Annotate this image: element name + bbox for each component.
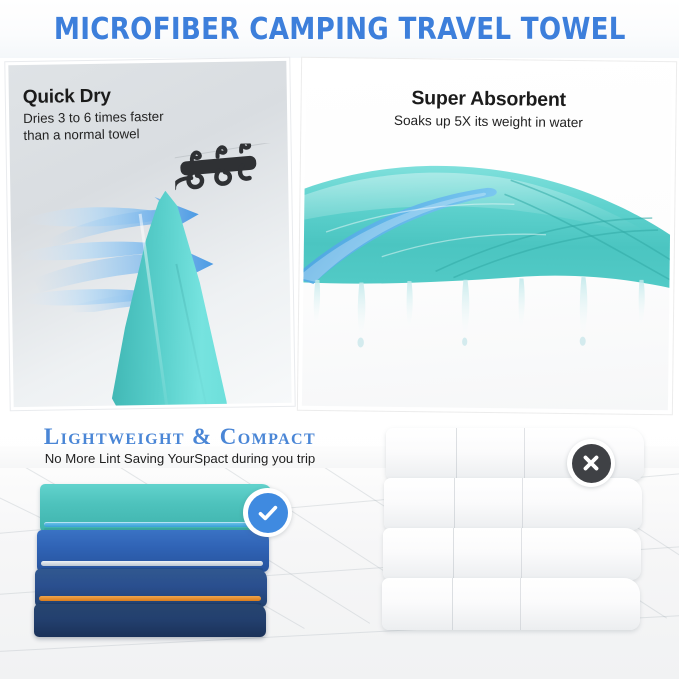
check-icon: [256, 501, 280, 525]
cross-icon: [580, 452, 602, 474]
feature-panels-row: Quick Dry Dries 3 to 6 times faster than…: [0, 58, 679, 416]
page-title: MICROFIBER CAMPING TRAVEL TOWEL: [54, 12, 626, 47]
navy-towel: [35, 569, 267, 607]
panel-quick-dry: Quick Dry Dries 3 to 6 times faster than…: [5, 58, 294, 410]
quick-dry-subtitle: Dries 3 to 6 times faster than a normal …: [23, 109, 164, 145]
super-absorbent-subtitle: Soaks up 5X its weight in water: [305, 112, 671, 131]
royal-blue-towel: [37, 530, 269, 572]
super-absorbent-scene: Super Absorbent Soaks up 5X its weight i…: [302, 62, 672, 410]
quick-dry-scene: Quick Dry Dries 3 to 6 times faster than…: [8, 61, 291, 407]
microfiber-towel-stack: [34, 484, 274, 639]
quick-dry-caption: Quick Dry Dries 3 to 6 times faster than…: [23, 85, 164, 145]
white-towel-2: [384, 478, 642, 530]
wall-hook-rack-icon: [175, 143, 284, 231]
comparison-headline: Lightweight & Compact: [0, 424, 360, 450]
panel-super-absorbent: Super Absorbent Soaks up 5X its weight i…: [298, 58, 676, 415]
check-badge-disc: [248, 493, 288, 533]
white-towel-4: [382, 578, 640, 630]
check-badge: [243, 488, 292, 537]
super-absorbent-title: Super Absorbent: [306, 86, 672, 113]
cross-badge: [567, 439, 615, 487]
white-towel-3: [383, 528, 641, 580]
twisted-towel: [302, 160, 672, 365]
cross-badge-disc: [572, 444, 611, 483]
quick-dry-title: Quick Dry: [23, 85, 164, 109]
towel-trim: [41, 561, 263, 566]
towel-trim: [44, 522, 266, 527]
super-absorbent-caption: Super Absorbent Soaks up 5X its weight i…: [305, 86, 671, 131]
teal-towel: [40, 484, 272, 532]
towel-trim: [39, 596, 261, 601]
dark-navy-towel: [34, 604, 266, 637]
header-banner: MICROFIBER CAMPING TRAVEL TOWEL: [0, 0, 679, 58]
comparison-caption: Lightweight & Compact No More Lint Savin…: [0, 424, 360, 466]
comparison-subtitle: No More Lint Saving YourSpact during you…: [0, 451, 360, 466]
